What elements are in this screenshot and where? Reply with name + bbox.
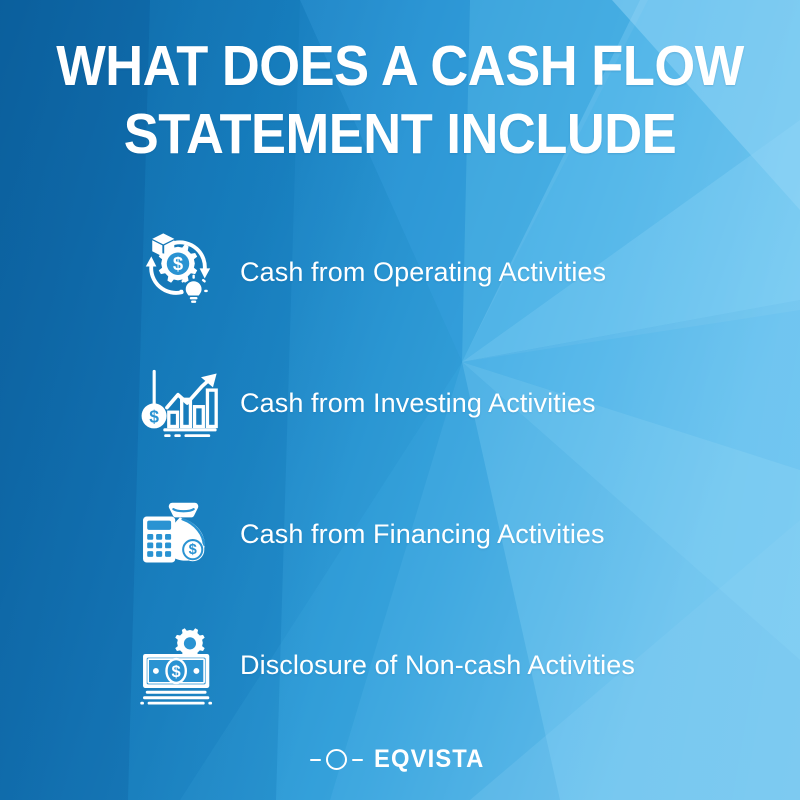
list-item-label: Disclosure of Non-cash Activities: [240, 650, 635, 681]
infographic-poster: WHAT DOES A CASH FLOW STATEMENT INCLUDE: [0, 0, 800, 800]
svg-text:$: $: [149, 406, 159, 426]
brand-name: EQVISTA: [374, 745, 484, 774]
list-item-label: Cash from Investing Activities: [240, 388, 596, 419]
list-item: $: [128, 484, 748, 584]
logo-circle: [326, 749, 347, 770]
svg-text:$: $: [172, 662, 181, 681]
banknote-gear-icon: $: [128, 617, 228, 713]
cash-flow-items-list: $: [128, 222, 748, 746]
bar-chart-growth-dollar-icon: $: [128, 355, 228, 451]
svg-text:$: $: [189, 542, 197, 558]
list-item: $: [128, 222, 748, 322]
calculator-money-bag-icon: $: [128, 486, 228, 582]
list-item: $: [128, 353, 748, 453]
eqvista-logo-mark: [310, 749, 363, 770]
gear-dollar-cycle-icon: $: [128, 224, 228, 320]
logo-dash-right: [352, 759, 363, 761]
page-title: WHAT DOES A CASH FLOW STATEMENT INCLUDE: [32, 32, 768, 169]
svg-text:$: $: [173, 253, 183, 274]
list-item: $ Disclosure of Non-cash Activities: [128, 615, 748, 715]
list-item-label: Cash from Financing Activities: [240, 519, 605, 550]
brand-footer: EQVISTA: [0, 745, 800, 774]
list-item-label: Cash from Operating Activities: [240, 257, 606, 288]
title-block: WHAT DOES A CASH FLOW STATEMENT INCLUDE: [0, 32, 800, 169]
logo-dash-left: [310, 759, 321, 761]
